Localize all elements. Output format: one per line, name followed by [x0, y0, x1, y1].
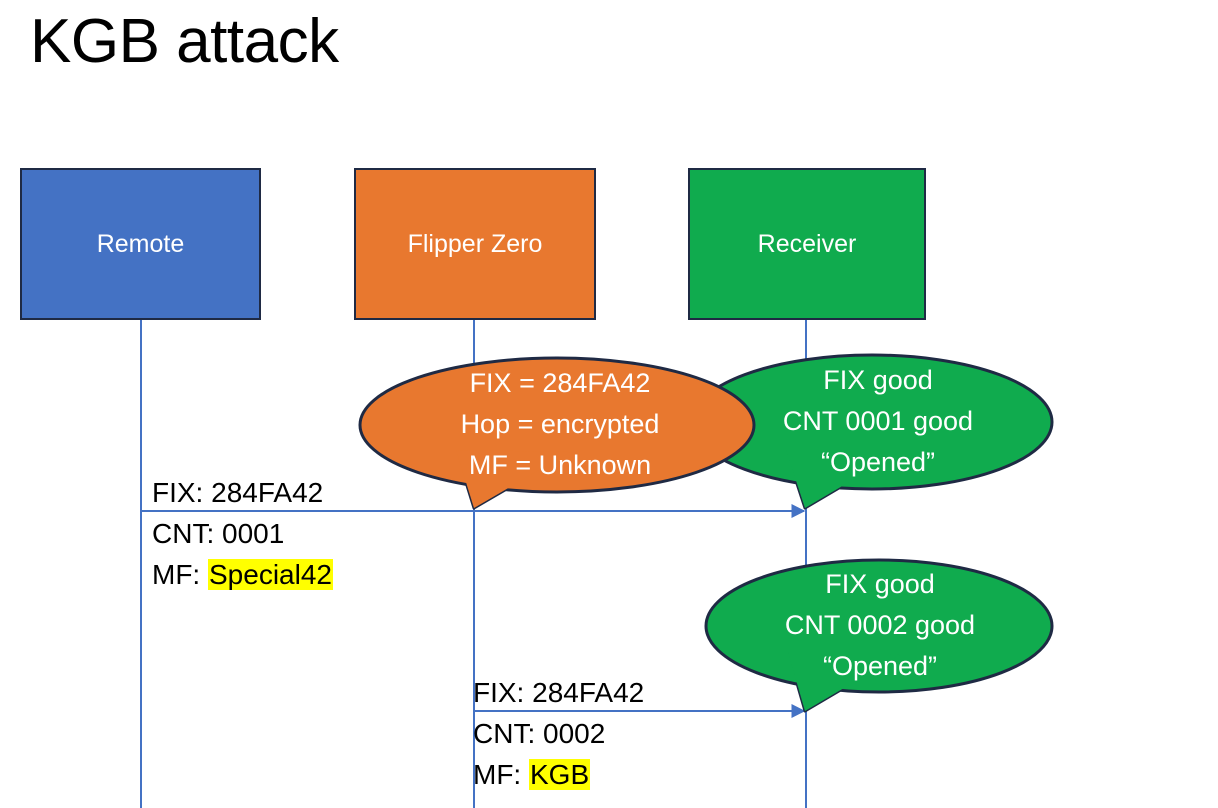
callout-orange	[360, 358, 754, 508]
actor-box-remote[interactable]: Remote	[20, 168, 261, 320]
actor-label-flipper: Flipper Zero	[408, 230, 543, 259]
message-1-mf: MF: Special42	[152, 554, 333, 595]
message-1-fix: FIX: 284FA42	[152, 472, 333, 513]
message-1-mf-prefix: MF:	[152, 559, 208, 590]
actor-label-receiver: Receiver	[758, 230, 857, 259]
slide-canvas: KGB attack	[0, 0, 1218, 808]
message-2-fix: FIX: 284FA42	[473, 672, 644, 713]
message-2-mf-prefix: MF:	[473, 759, 529, 790]
actor-box-receiver[interactable]: Receiver	[688, 168, 926, 320]
message-1-mf-value: Special42	[208, 559, 333, 590]
callout-green-second	[706, 560, 1052, 711]
actor-box-flipper[interactable]: Flipper Zero	[354, 168, 596, 320]
message-label-2: FIX: 284FA42 CNT: 0002 MF: KGB	[473, 672, 644, 795]
actor-label-remote: Remote	[97, 230, 185, 259]
message-2-cnt: CNT: 0002	[473, 713, 644, 754]
message-label-1: FIX: 284FA42 CNT: 0001 MF: Special42	[152, 472, 333, 595]
message-1-cnt: CNT: 0001	[152, 513, 333, 554]
message-2-mf-value: KGB	[529, 759, 590, 790]
message-2-mf: MF: KGB	[473, 754, 644, 795]
